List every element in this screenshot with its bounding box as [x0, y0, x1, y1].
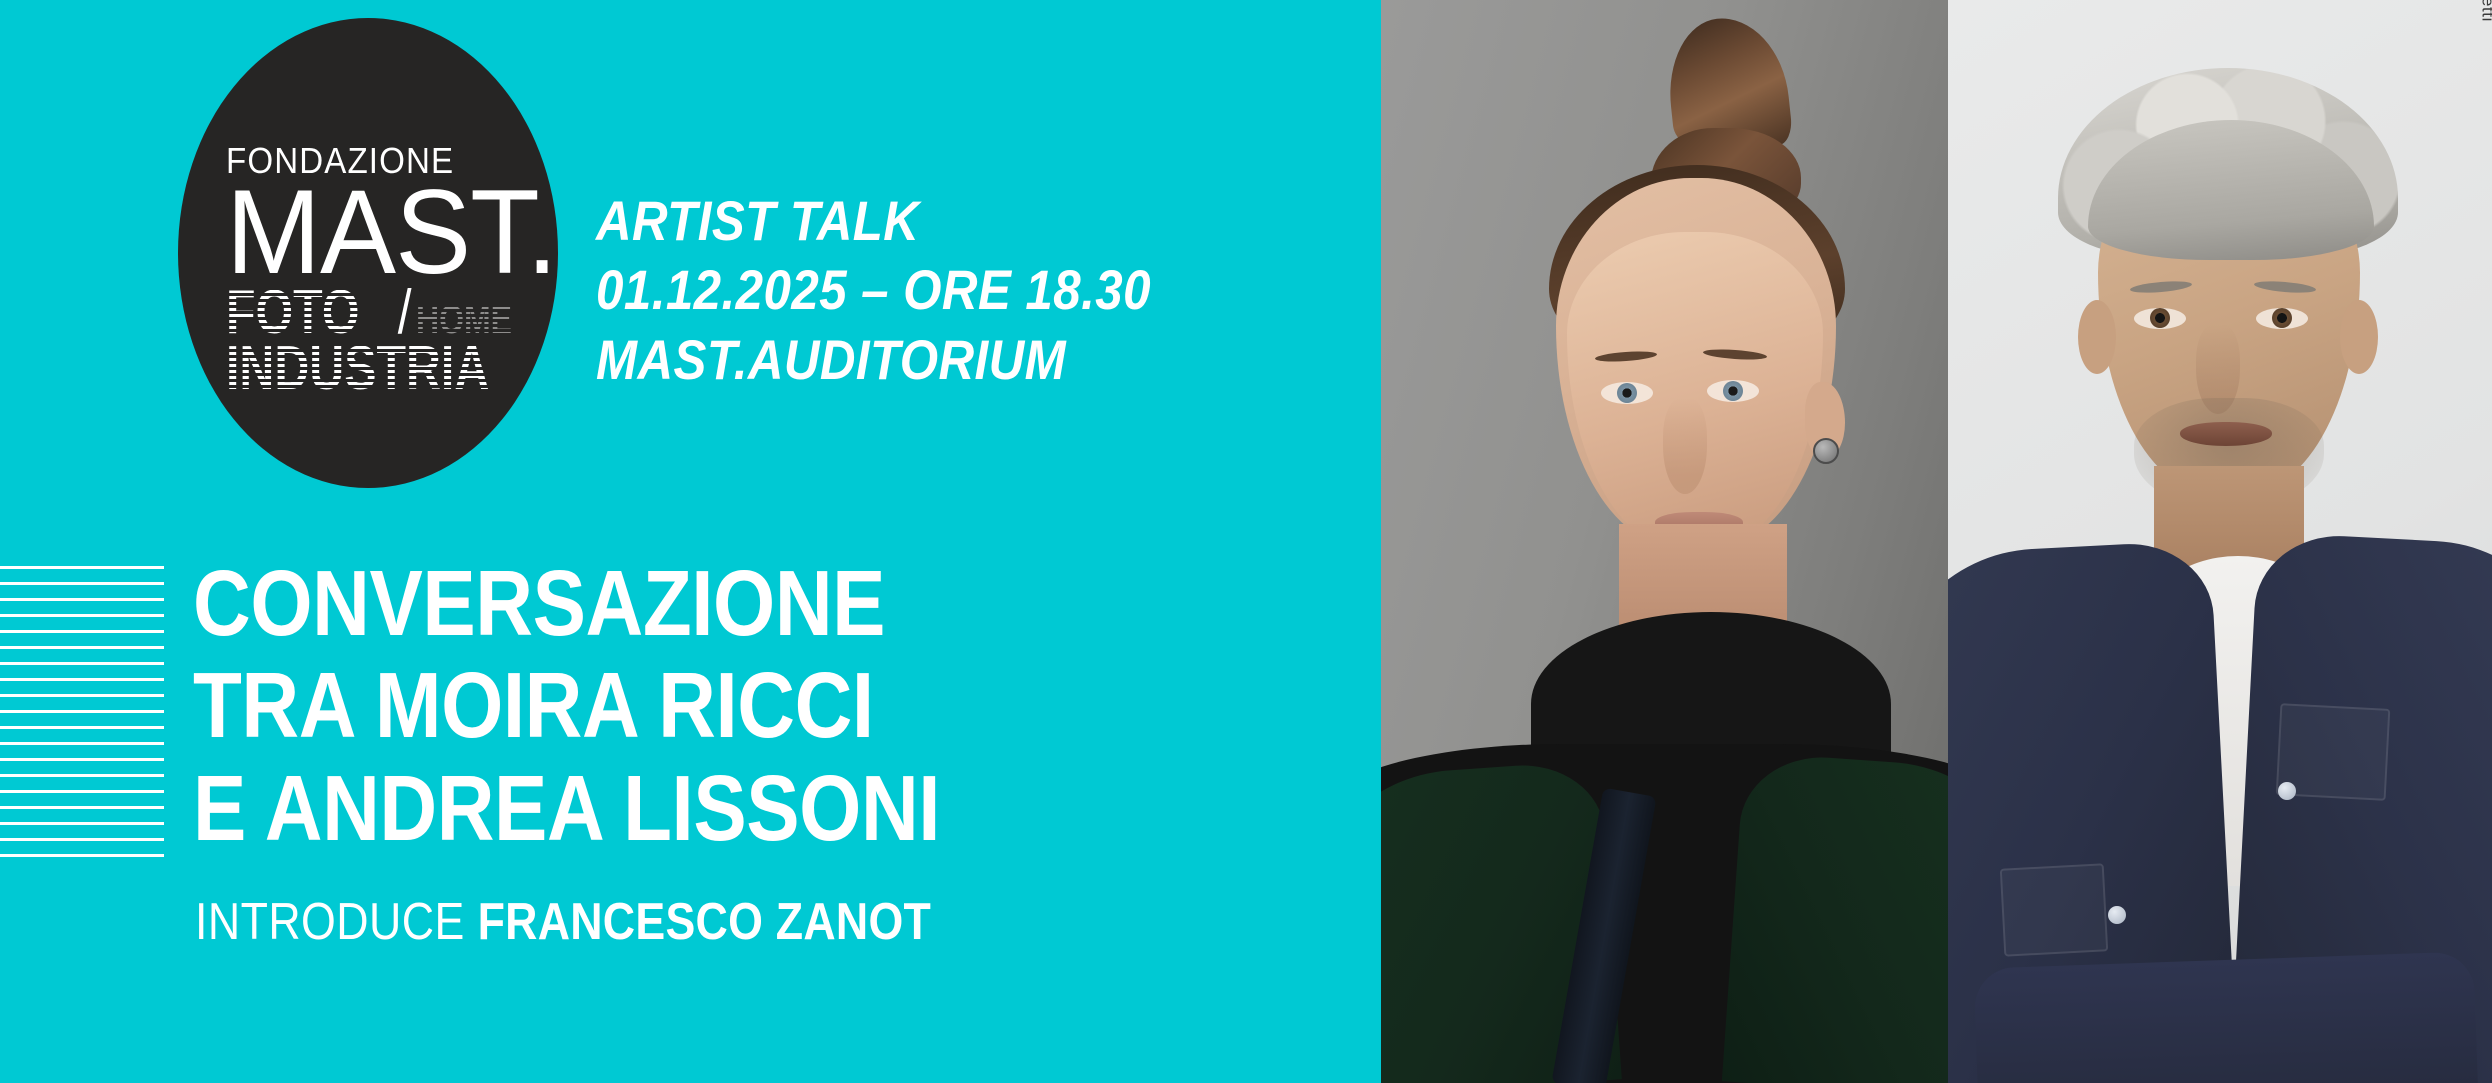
logo-mast-text: MAST. — [226, 181, 511, 284]
event-venue: MAST.AUDITORIUM — [596, 325, 1151, 394]
headline-line-1: CONVERSAZIONE — [193, 552, 940, 654]
teal-content-panel: FONDAZIONE MAST. FOTO / HOME INDUSTRIA A… — [0, 0, 1381, 1083]
headline-line-3: E ANDREA LISSONI — [193, 757, 940, 859]
earring — [1813, 438, 1839, 464]
portrait-moira-ricci — [1381, 0, 1948, 1083]
event-meta-block: ARTIST TALK 01.12.2025 – ORE 18.30 MAST.… — [596, 186, 1227, 394]
introduce-space — [465, 893, 478, 951]
iris-left — [2150, 308, 2170, 328]
stripe-decoration — [0, 566, 164, 866]
introduce-label: INTRODUCE — [195, 893, 465, 951]
event-type-label: ARTIST TALK — [596, 186, 1151, 255]
iris-left — [1617, 383, 1637, 403]
introduce-line: INTRODUCE FRANCESCO ZANOT — [195, 892, 931, 952]
mast-logo[interactable]: FONDAZIONE MAST. FOTO / HOME INDUSTRIA — [178, 18, 558, 488]
shirt-button-1 — [2278, 782, 2296, 800]
iris-right — [1723, 381, 1743, 401]
logo-industria-text: INDUSTRIA — [226, 340, 489, 398]
eye-left — [1601, 382, 1653, 404]
logo-text-stack: FONDAZIONE MAST. FOTO / HOME INDUSTRIA — [226, 143, 526, 399]
eye-right — [2256, 308, 2308, 329]
eye-right — [1707, 380, 1759, 402]
photo-credit-label: Ph. Andrea Rossetti — [2478, 0, 2492, 22]
introduce-person-name: FRANCESCO ZANOT — [478, 893, 932, 951]
event-datetime: 01.12.2025 – ORE 18.30 — [596, 255, 1151, 324]
ear-left — [2078, 300, 2116, 374]
ear-right — [2340, 300, 2378, 374]
eye-left — [2134, 308, 2186, 329]
headline-line-2: TRA MOIRA RICCI — [193, 654, 940, 756]
mouth — [2180, 422, 2272, 446]
portrait-andrea-lissoni — [1948, 0, 2492, 1083]
green-cardigan-right — [1722, 752, 1948, 1083]
logo-industria-row: INDUSTRIA — [226, 342, 526, 398]
event-banner: FONDAZIONE MAST. FOTO / HOME INDUSTRIA A… — [0, 0, 2492, 1083]
nose — [1663, 398, 1707, 494]
crossed-arms — [1974, 951, 2479, 1083]
shirt-button-2 — [2108, 906, 2126, 924]
event-headline: CONVERSAZIONE TRA MOIRA RICCI E ANDREA L… — [193, 552, 1062, 859]
shirt-pocket-left — [2000, 863, 2108, 956]
iris-right — [2272, 308, 2292, 328]
